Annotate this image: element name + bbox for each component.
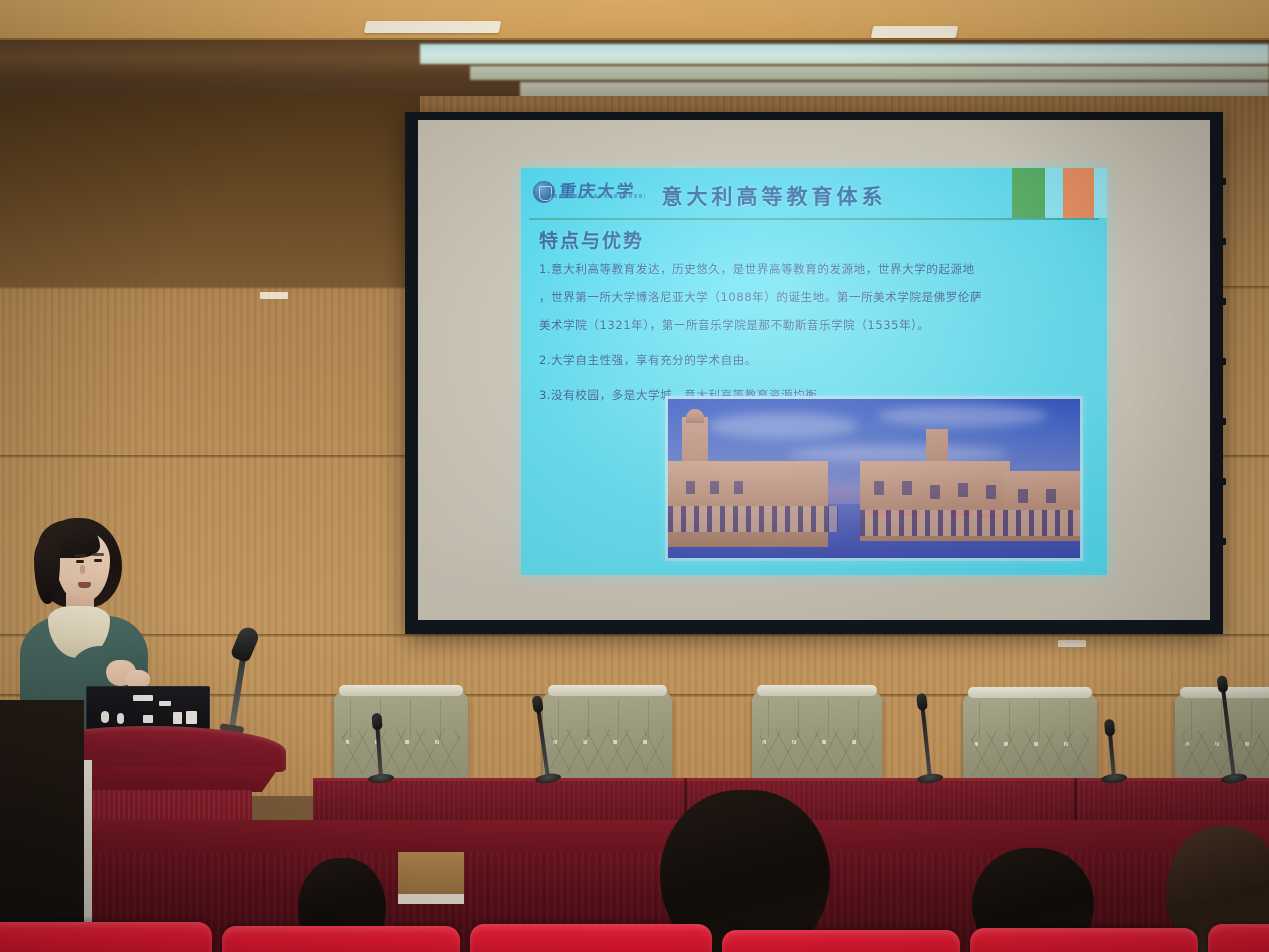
presenter-eye [76,560,84,563]
photo-window [930,485,940,499]
audience-seat [470,924,712,952]
screen-clip [1212,178,1226,185]
wall-clip [1058,640,1086,647]
laptop-screen-text [159,701,171,706]
laptop-screen-text [186,711,197,724]
photo-building-left [668,461,828,547]
presenter-eye [94,559,102,562]
slide-header-rule [529,218,1099,220]
ceiling-light-glow [470,66,1269,80]
photo-window [686,481,695,494]
slide-bullet-line: ，世界第一所大学博洛尼亚大学（1088年）的诞生地。第一所美术学院是佛罗伦萨 [539,286,1091,309]
presenter-brow [92,553,104,556]
chair-quilting [1183,731,1269,775]
screen-clip [1212,358,1226,365]
ceiling-light-glow [420,44,1269,64]
laptop-screen-text [133,695,153,701]
conference-chair [334,692,468,784]
presenter-mouth [78,582,91,588]
photo-window [874,481,884,495]
photo-window [902,481,912,495]
slide-body-text: 1.意大利高等教育发达，历史悠久，是世界高等教育的发源地，世界大学的起源地 ，世… [539,258,1091,412]
slide-title: 意大利高等教育体系 [521,181,1107,211]
audience-seat [722,930,960,952]
presenter-brow [74,554,86,557]
photo-arcade-right [860,510,1083,536]
photo-cloud [708,413,858,439]
audience-seat [970,928,1198,952]
ceiling-light-strip [364,21,502,33]
screen-clip [1212,298,1226,305]
audience-seat [1208,924,1269,952]
photo-window [1018,489,1028,503]
conference-chair [543,692,672,784]
screen-clip [1212,478,1226,485]
presenter-nose [80,565,85,574]
slide-bullet-line: 美术学院（1321年），第一所音乐学院是那不勒斯音乐学院（1535年）。 [539,314,1091,337]
presenter-laptop[interactable] [86,686,210,730]
laptop-screen-text [117,713,124,724]
wall-seam [0,634,1269,637]
conference-chair [1175,694,1269,786]
screen-clip [1212,418,1226,425]
wall-clip [260,292,288,299]
slide-section-heading: 特点与优势 [539,226,644,253]
chair-quilting [760,729,874,773]
chair-quilting [551,729,665,773]
stage-left-shadow [0,700,84,952]
laptop-screen-text [173,712,182,724]
photo-window [1046,489,1056,503]
ceiling-light-strip [871,26,959,38]
photo-window [710,481,719,494]
slide-bullet-line: 1.意大利高等教育发达，历史悠久，是世界高等教育的发源地，世界大学的起源地 [539,258,1091,281]
laptop-screen-text [101,711,109,723]
presentation-slide: 重庆大学 意大利高等教育体系 特点与优势 1.意大利高等教育发达，历史悠久，是世… [521,168,1107,575]
laptop-screen-text [143,715,153,723]
chair-quilting [342,729,460,773]
photo-cloud [878,405,1048,427]
photo-window [958,483,968,497]
ceiling-beam [0,0,1269,42]
audience-seat [0,922,212,952]
slide-photo-bologna [665,396,1083,561]
wall-shadow-region [0,96,420,286]
conference-chair [752,692,882,784]
screen-clip [1212,238,1226,245]
screen-clip [1212,538,1226,545]
audience-seat [222,926,460,952]
conference-chair [963,694,1097,786]
chair-quilting [971,731,1089,775]
lecture-hall-photo: 重庆大学 意大利高等教育体系 特点与优势 1.意大利高等教育发达，历史悠久，是世… [0,0,1269,952]
photo-arcade-left [668,506,838,532]
photo-tower-cap [686,409,704,423]
photo-window [986,485,996,499]
photo-window [734,481,743,494]
stage-doorway [398,852,464,904]
slide-bullet-line: 2.大学自主性强，享有充分的学术自由。 [539,349,1091,372]
